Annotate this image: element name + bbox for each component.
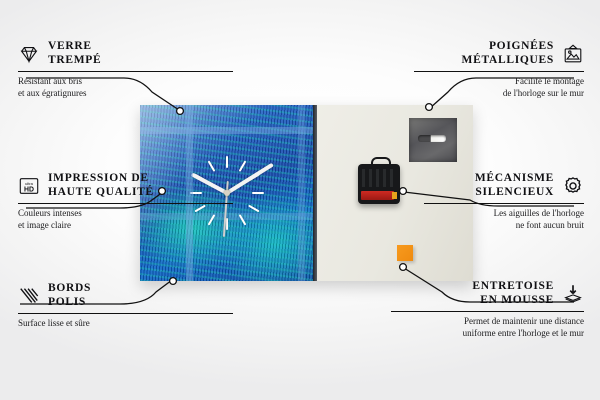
feature-verre-trempe: VERRE TREMPÉ Résistant aux bris et aux é… xyxy=(18,40,233,99)
picture-hanger-icon xyxy=(562,43,584,65)
feature-title-line2: MÉTALLIQUES xyxy=(462,54,554,68)
divider xyxy=(18,203,233,204)
feature-title-line1: VERRE xyxy=(48,40,101,54)
feature-impression-haute-qualite: ultra HD IMPRESSION DE HAUTE QUALITÉ Cou… xyxy=(18,172,233,231)
feature-title-line1: BORDS xyxy=(48,282,91,296)
feature-desc-line2: ne font aucun bruit xyxy=(369,220,584,232)
diamond-icon xyxy=(18,43,40,65)
feature-title-line2: SILENCIEUX xyxy=(475,186,554,200)
feature-desc-line1: Couleurs intenses xyxy=(18,208,233,220)
feature-desc-line1: Résistant aux bris xyxy=(18,76,233,88)
foam-spacer-icon xyxy=(562,283,584,305)
panel-edge xyxy=(313,105,317,281)
feature-title-line1: IMPRESSION DE xyxy=(48,172,154,186)
feature-title-line1: ENTRETOISE xyxy=(472,280,554,294)
feature-title-line2: EN MOUSSE xyxy=(472,294,554,308)
gear-icon xyxy=(562,175,584,197)
feature-desc-line2: et aux égratignures xyxy=(18,88,233,100)
feature-desc-line2: uniforme entre l'horloge et le mur xyxy=(369,328,584,340)
divider xyxy=(18,313,233,314)
ultra-hd-icon: ultra HD xyxy=(18,175,40,197)
feature-title-line1: MÉCANISME xyxy=(475,172,554,186)
feature-desc-line1: Surface lisse et sûre xyxy=(18,318,233,330)
feature-title-line2: TREMPÉ xyxy=(48,54,101,68)
divider xyxy=(424,203,584,204)
divider xyxy=(18,71,233,72)
divider xyxy=(414,71,584,72)
metal-hanger-plate xyxy=(409,118,457,162)
mechanism-hanging-loop xyxy=(371,157,391,168)
svg-text:HD: HD xyxy=(24,186,34,193)
feature-desc-line1: Permet de maintenir une distance xyxy=(369,316,584,328)
infographic-canvas: VERRE TREMPÉ Résistant aux bris et aux é… xyxy=(0,0,600,400)
svg-text:ultra: ultra xyxy=(25,181,34,186)
feature-title-line2: POLIS xyxy=(48,296,91,310)
foam-spacer xyxy=(397,245,413,261)
feature-desc-line2: de l'horloge sur le mur xyxy=(369,88,584,100)
feature-desc-line1: Facilite le montage xyxy=(369,76,584,88)
divider xyxy=(391,311,584,312)
hanger-keyhole-slot xyxy=(418,135,446,142)
feature-bords-polis: BORDS POLIS Surface lisse et sûre xyxy=(18,282,233,330)
feature-desc-line1: Les aiguilles de l'horloge xyxy=(369,208,584,220)
feature-entretoise-en-mousse: ENTRETOISE EN MOUSSE Permet de maintenir… xyxy=(369,280,584,339)
feature-title-line2: HAUTE QUALITÉ xyxy=(48,186,154,200)
polished-edges-icon xyxy=(18,285,40,307)
feature-poignees-metalliques: POIGNÉES MÉTALLIQUES Facilite le montage… xyxy=(369,40,584,99)
feature-title-line1: POIGNÉES xyxy=(462,40,554,54)
feature-desc-line2: et image claire xyxy=(18,220,233,232)
feature-mecanisme-silencieux: MÉCANISME SILENCIEUX Les aiguilles de l'… xyxy=(369,172,584,231)
